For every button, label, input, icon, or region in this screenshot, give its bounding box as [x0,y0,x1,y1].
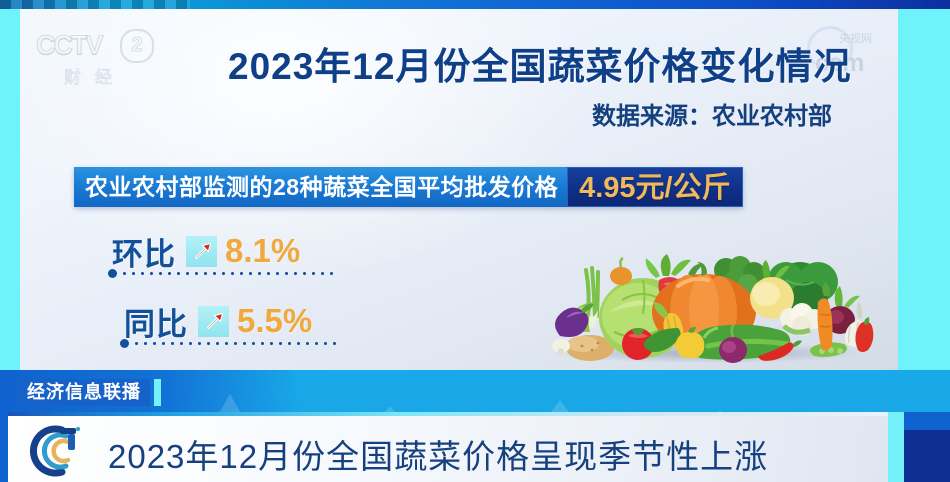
arrow-up-right-red-icon [198,306,229,337]
metric-label-mom: 环比 [112,229,176,274]
leader-line-mom [108,268,336,278]
fact-banner-price: 4.95元/公斤 [567,167,743,207]
metric-value-yoy: 5.5% [237,302,312,340]
lower-third: 2023年12月份全国蔬菜价格呈现季节性上涨 [8,412,888,482]
lower-third-right-cyan [888,412,904,482]
data-source-label: 数据来源：农业农村部 [592,96,832,131]
lower-third-right-navy [904,430,950,482]
metric-row-mom: 环比 8.1% [112,230,300,272]
left-cyan-frame [0,9,20,370]
cctv-logo-text: CCTV [36,30,102,61]
metric-row-yoy: 同比 5.5% [124,300,312,342]
top-bar-speckle [0,0,190,9]
metric-label-yoy: 同比 [124,299,188,344]
lower-third-headline: 2023年12月份全国蔬菜价格呈现季节性上涨 [108,430,768,478]
cctv-channel-logo: CCTV 2 财经 [36,28,154,90]
mushroom-shape [552,339,570,356]
show-tag-label: 经济信息联播 [18,379,150,406]
leader-dots [132,342,342,345]
page-title: 2023年12月份全国蔬菜价格变化情况 [228,36,851,90]
metric-value-mom: 8.1% [225,232,300,270]
fact-banner-description: 农业农村部监测的28种蔬菜全国平均批发价格 [74,167,567,207]
vegetables-illustration [528,240,888,365]
leader-line-yoy [120,338,342,348]
leader-dots [120,272,336,275]
lower-third-capline [8,412,888,416]
show-tag: 经济信息联播 [18,379,161,406]
arrow-up-right-red-icon [186,236,217,267]
cctv-channel-number: 2 [120,29,154,63]
program-logo-icon [28,422,90,478]
onion-shape [610,258,632,285]
broadcast-graphic-screen: CCTV 2 财经 央视网 com 2023年12月份全国蔬菜价格变化情况 数据… [0,0,950,482]
leader-bullet-icon [120,339,129,348]
leader-bullet-icon [108,269,117,278]
show-tag-accent [154,379,161,406]
cctv-channel-subtitle: 财经 [64,63,126,88]
right-cyan-frame [898,9,950,370]
fact-banner: 农业农村部监测的28种蔬菜全国平均批发价格 4.95元/公斤 [74,167,743,207]
lower-third-right-blue [904,412,950,430]
top-gradient-bar [0,0,950,9]
